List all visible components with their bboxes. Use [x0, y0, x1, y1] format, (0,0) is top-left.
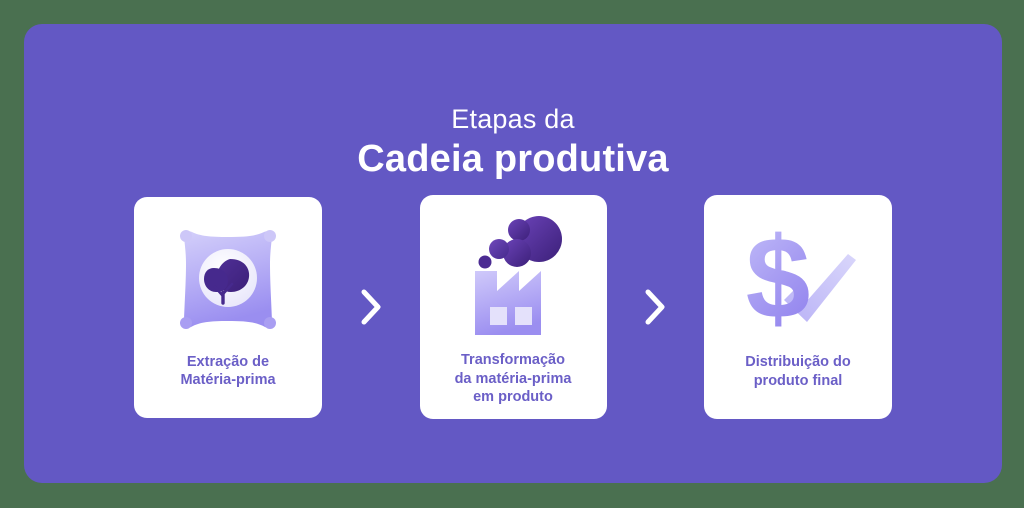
- step-label-transformacao: Transformação da matéria-prima em produt…: [447, 351, 580, 407]
- seed-sack-leaf-icon: [170, 219, 286, 347]
- step-card-extracao[interactable]: Extração de Matéria-prima: [134, 197, 322, 418]
- page-title: Etapas da Cadeia produtiva: [24, 102, 1002, 182]
- dollar-check-icon: $: [732, 213, 864, 347]
- infographic-stage: Etapas da Cadeia produtiva: [0, 0, 1024, 508]
- process-flow: Extração de Matéria-prima: [134, 191, 892, 423]
- infographic-panel: Etapas da Cadeia produtiva: [24, 24, 1002, 483]
- chevron-right-icon: [640, 284, 670, 330]
- step-label-extracao: Extração de Matéria-prima: [172, 353, 283, 390]
- factory-smoke-icon: [453, 209, 573, 345]
- svg-text:$: $: [746, 218, 811, 342]
- step-card-transformacao[interactable]: Transformação da matéria-prima em produt…: [420, 195, 607, 419]
- step-label-distribuicao: Distribuição do produto final: [737, 353, 859, 390]
- chevron-right-icon: [356, 284, 386, 330]
- title-main: Cadeia produtiva: [24, 136, 1002, 182]
- title-eyebrow: Etapas da: [24, 102, 1002, 136]
- step-card-distribuicao[interactable]: $ Distribuição do produto final: [704, 195, 892, 419]
